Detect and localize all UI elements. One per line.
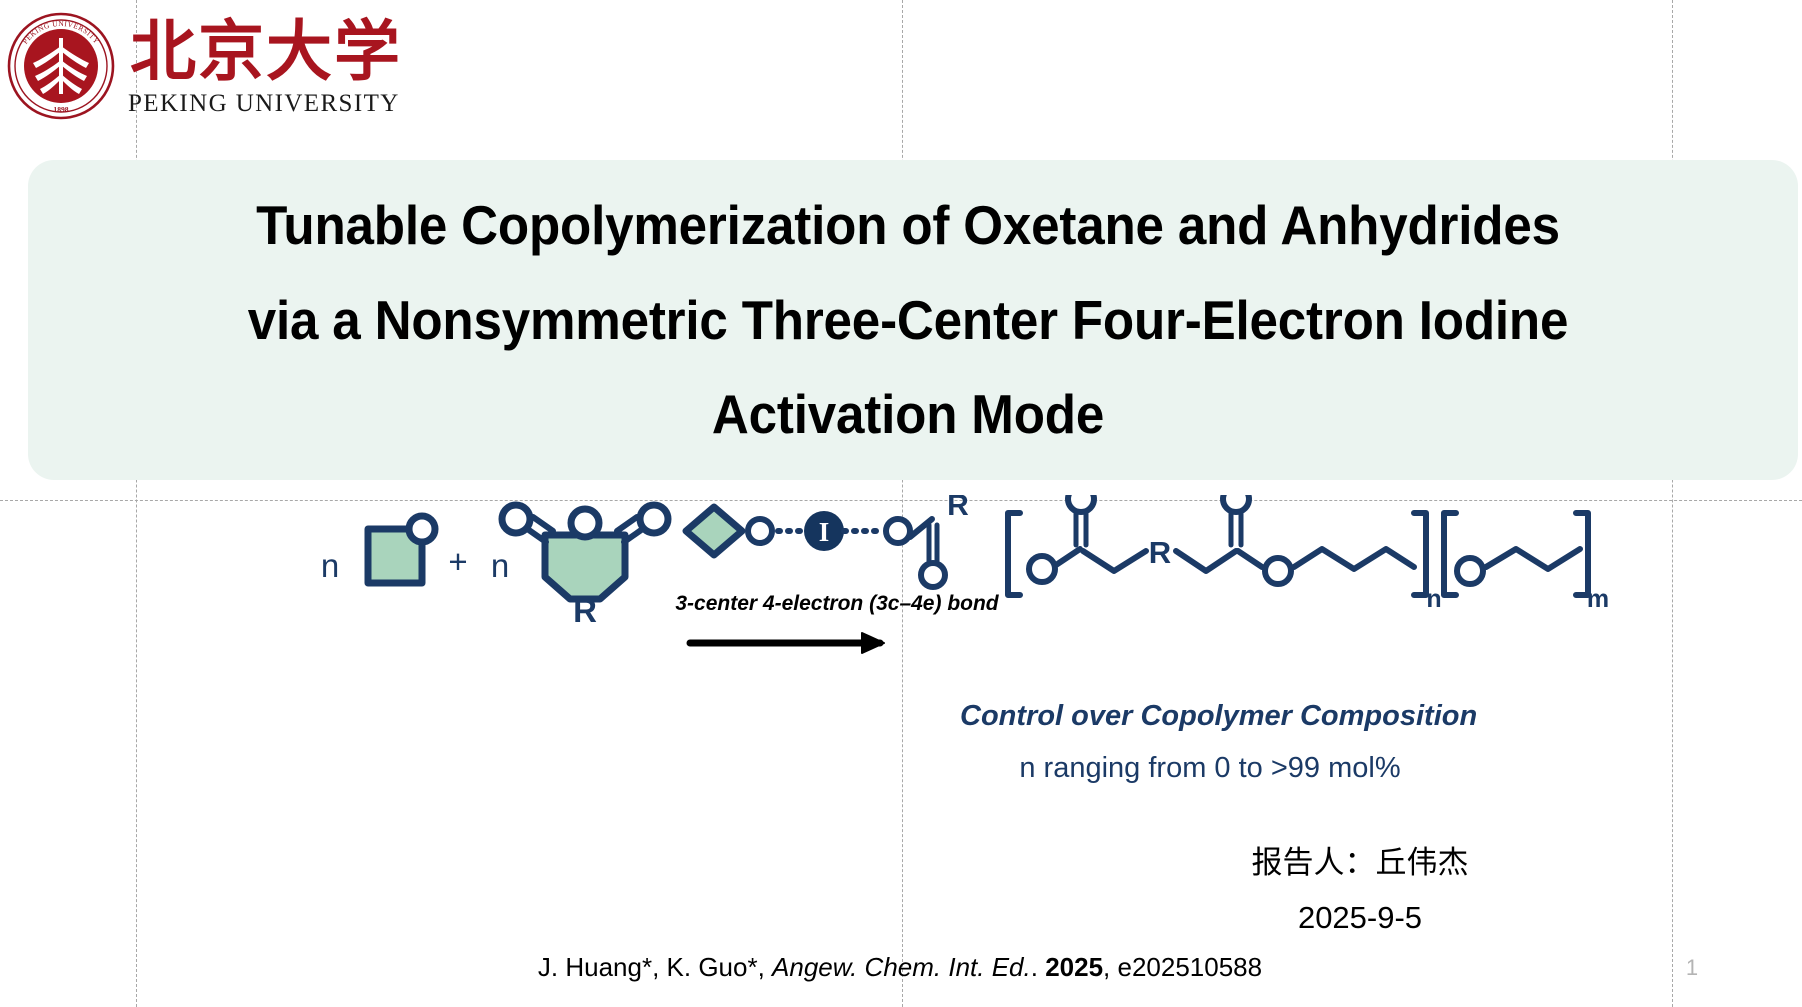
citation-year: 2025 xyxy=(1045,952,1103,982)
reactant2-coefficient: n xyxy=(491,547,509,584)
plus-symbol: + xyxy=(448,543,467,580)
presentation-date: 2025-9-5 xyxy=(1150,900,1570,936)
product-subscript-m: m xyxy=(1587,585,1609,613)
citation-authors: J. Huang*, K. Guo*, xyxy=(538,952,772,982)
citation-journal: Angew. Chem. Int. Ed. xyxy=(772,952,1031,982)
product-subscript-n: n xyxy=(1426,585,1441,613)
complex-r-group: R xyxy=(947,495,969,522)
university-logo: 1898 PEKING UNIVERSITY 北京大学 PEKING UNIVE… xyxy=(0,2,430,130)
reaction-scheme: n + n R I xyxy=(0,495,1802,755)
slide-canvas: 1898 PEKING UNIVERSITY 北京大学 PEKING UNIVE… xyxy=(0,0,1802,1007)
citation-article: , e202510588 xyxy=(1103,952,1262,982)
citation-sep: . xyxy=(1031,952,1045,982)
reactant2-r-group: R xyxy=(573,592,597,629)
control-caption: Control over Copolymer Composition xyxy=(960,700,1460,733)
page-title: Tunable Copolymerization of Oxetane and … xyxy=(145,160,1670,480)
title-line-1: Tunable Copolymerization of Oxetane and … xyxy=(256,194,1560,256)
title-box: Tunable Copolymerization of Oxetane and … xyxy=(28,160,1798,480)
title-line-2: via a Nonsymmetric Three-Center Four-Ele… xyxy=(248,289,1569,351)
product-r-group: R xyxy=(1149,535,1171,570)
pku-seal-icon: 1898 PEKING UNIVERSITY xyxy=(6,10,116,122)
range-caption: n ranging from 0 to >99 mol% xyxy=(960,752,1460,785)
reactant1-coefficient: n xyxy=(321,547,339,584)
seal-year: 1898 xyxy=(53,105,68,114)
presenter-name: 报告人：丘伟杰 xyxy=(1150,837,1570,882)
pku-english-name: PEKING UNIVERSITY xyxy=(128,90,378,120)
title-line-3: Activation Mode xyxy=(712,383,1104,445)
page-number: 1 xyxy=(1672,955,1712,981)
pku-chinese-name-icon: 北京大学 xyxy=(128,8,418,92)
citation: J. Huang*, K. Guo*, Angew. Chem. Int. Ed… xyxy=(300,952,1500,983)
bond-caption: 3-center 4-electron (3c–4e) bond xyxy=(672,592,1002,616)
svg-text:北京大学: 北京大学 xyxy=(130,13,402,90)
iodine-label: I xyxy=(819,517,830,547)
